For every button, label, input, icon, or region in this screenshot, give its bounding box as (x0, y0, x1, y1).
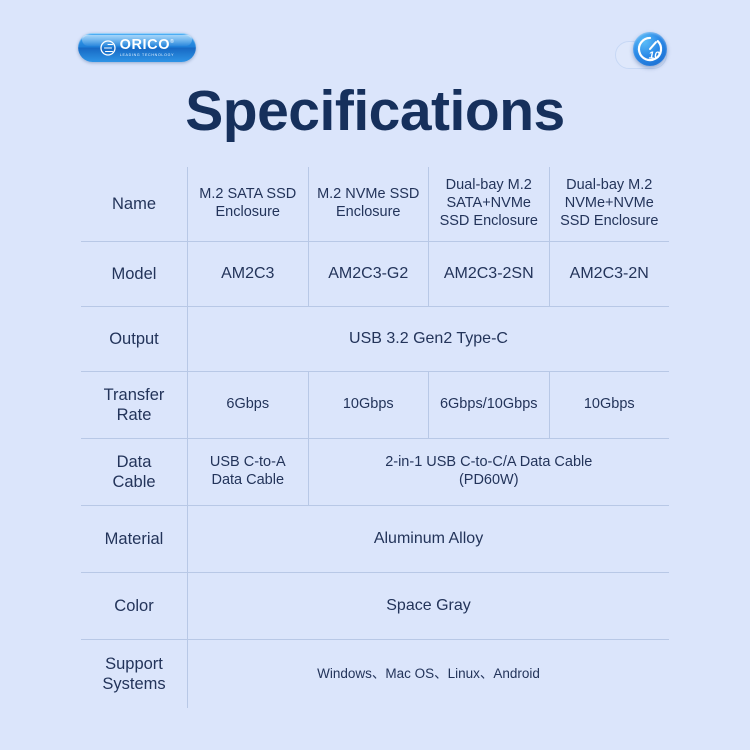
row-label: DataCable (81, 439, 188, 506)
table-row: ColorSpace Gray (81, 573, 670, 640)
specifications-table: NameM.2 SATA SSDEnclosureM.2 NVMe SSDEnc… (80, 166, 670, 709)
row-label: Output (81, 307, 188, 372)
row-label: Name (81, 167, 188, 242)
table-cell: M.2 NVMe SSDEnclosure (308, 167, 429, 242)
logo-word: ORICO® (120, 38, 175, 53)
table-cell: 2-in-1 USB C-to-C/A Data Cable(PD60W) (308, 439, 670, 506)
table-cell: Dual-bay M.2SATA+NVMeSSD Enclosure (429, 167, 550, 242)
logo-wordmark: ORICO® LEADING TECHNOLOGY (120, 38, 175, 58)
orico-g-mark-icon (100, 40, 116, 56)
row-label: Material (81, 506, 188, 573)
row-label: TransferRate (81, 372, 188, 439)
table-cell: 6Gbps (188, 372, 309, 439)
table-cell: USB 3.2 Gen2 Type-C (188, 307, 670, 372)
speed-badge: 10 (633, 32, 667, 66)
table-row: TransferRate6Gbps10Gbps6Gbps/10Gbps10Gbp… (81, 372, 670, 439)
badge-value-text: 10 (649, 50, 661, 61)
logo-inner: ORICO® LEADING TECHNOLOGY (100, 38, 175, 58)
table-cell: AM2C3 (188, 242, 309, 307)
table-row: SupportSystemsWindows、Mac OS、Linux、Andro… (81, 640, 670, 709)
table-cell: Aluminum Alloy (188, 506, 670, 573)
orico-logo-badge: ORICO® LEADING TECHNOLOGY (78, 33, 196, 62)
table-cell: Windows、Mac OS、Linux、Android (188, 640, 670, 709)
row-label: Color (81, 573, 188, 640)
logo-tagline: LEADING TECHNOLOGY (120, 54, 174, 58)
table-cell: 10Gbps (549, 372, 670, 439)
table-cell: AM2C3-2SN (429, 242, 550, 307)
row-label: Model (81, 242, 188, 307)
table-cell: Dual-bay M.2NVMe+NVMeSSD Enclosure (549, 167, 670, 242)
table-row: NameM.2 SATA SSDEnclosureM.2 NVMe SSDEnc… (81, 167, 670, 242)
table-cell: Space Gray (188, 573, 670, 640)
speed-badge-group: 10 (613, 27, 685, 79)
table-cell: 10Gbps (308, 372, 429, 439)
table-cell: M.2 SATA SSDEnclosure (188, 167, 309, 242)
speed-gauge-icon: 10 (633, 32, 667, 66)
table-cell: AM2C3-G2 (308, 242, 429, 307)
logo-word-text: ORICO (120, 37, 171, 53)
page-title: Specifications (0, 78, 750, 144)
table-cell: 6Gbps/10Gbps (429, 372, 550, 439)
table-row: MaterialAluminum Alloy (81, 506, 670, 573)
table-cell: USB C-to-AData Cable (188, 439, 309, 506)
table-row: ModelAM2C3AM2C3-G2AM2C3-2SNAM2C3-2N (81, 242, 670, 307)
table-row: DataCableUSB C-to-AData Cable2-in-1 USB … (81, 439, 670, 506)
row-label: SupportSystems (81, 640, 188, 709)
table-cell: AM2C3-2N (549, 242, 670, 307)
registered-mark: ® (170, 39, 174, 45)
table-row: OutputUSB 3.2 Gen2 Type-C (81, 307, 670, 372)
